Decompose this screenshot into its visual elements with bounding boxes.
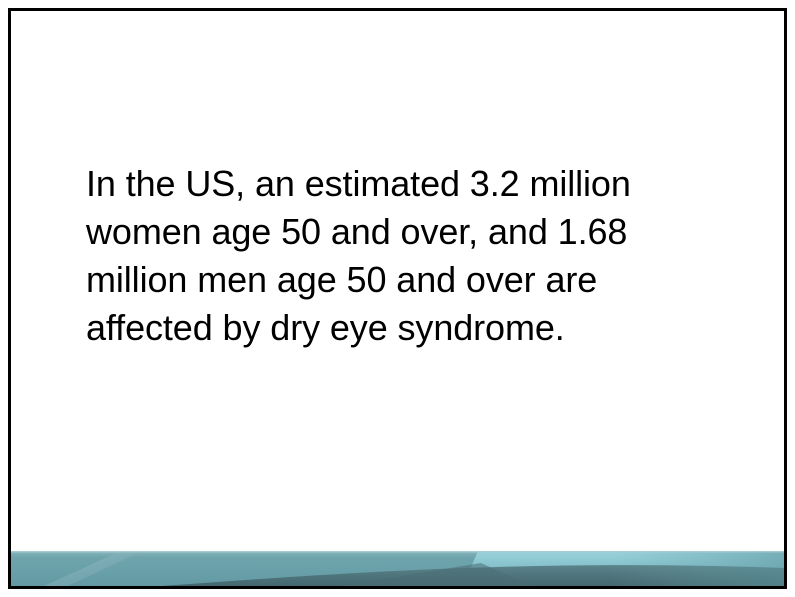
slide-canvas: In the US, an estimated 3.2 million wome… [0,0,795,597]
band-right-fade [611,551,784,586]
footer-band-graphic [11,551,784,586]
slide-body-textbox[interactable]: In the US, an estimated 3.2 million wome… [86,160,706,352]
footer-decoration-band [11,551,784,586]
body-paragraph: In the US, an estimated 3.2 million wome… [86,160,706,352]
band-left-streak [44,551,142,586]
slide-frame: In the US, an estimated 3.2 million wome… [8,8,787,589]
band-top-edge-line [11,551,784,552]
